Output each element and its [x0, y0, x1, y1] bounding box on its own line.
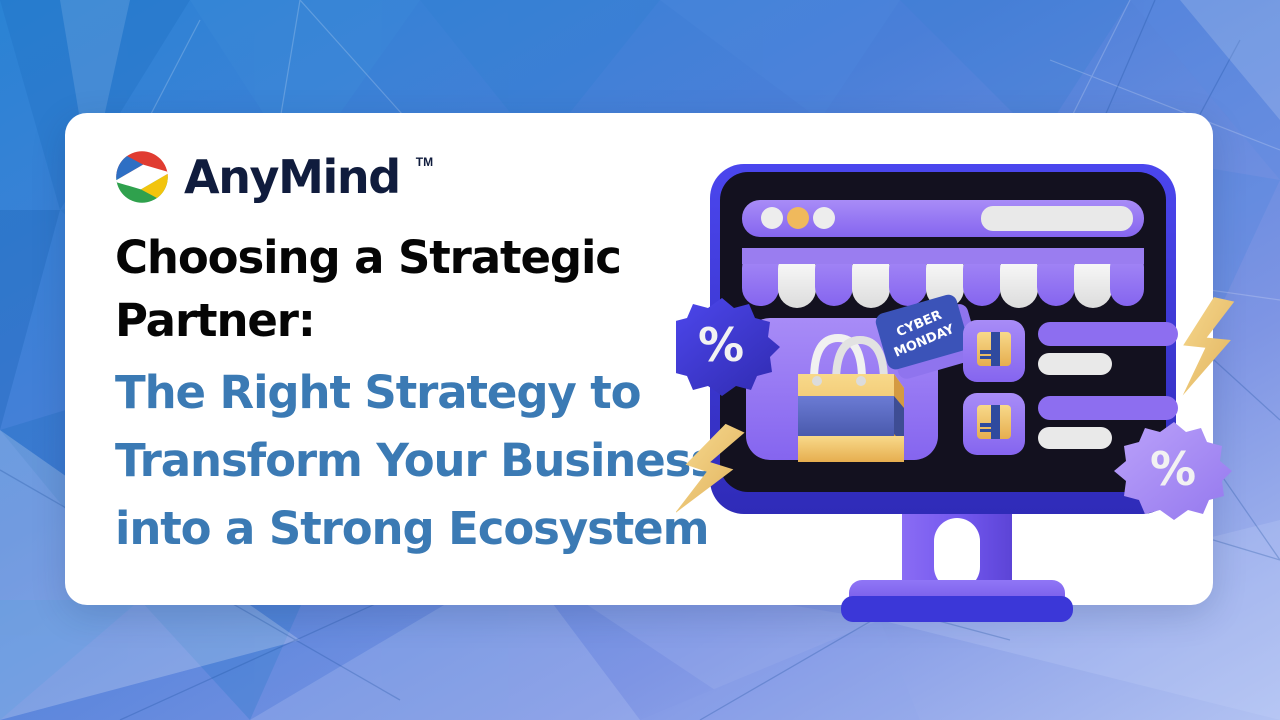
subhead-line-3: into a Strong Ecosystem [115, 495, 755, 563]
window-dot-3 [813, 207, 835, 229]
browser-bar [742, 200, 1144, 237]
cyber-monday-ecommerce-illustration: CYBER MONDAY % % [676, 150, 1246, 630]
subhead-line-1: The Right Strategy to [115, 359, 755, 427]
row-bar-secondary [1038, 427, 1112, 449]
lightning-bolt-right [1176, 296, 1241, 396]
window-dot-1 [761, 207, 783, 229]
headline-line-1: Choosing a Strategic [115, 226, 725, 289]
subhead-line-2: Transform Your Business [115, 427, 755, 495]
row-bar-primary [1038, 396, 1178, 420]
package-box-icon [977, 332, 1011, 366]
monitor-base [841, 580, 1073, 622]
row-bar-primary [1038, 322, 1178, 346]
brand-wordmark: AnyMind [184, 154, 400, 200]
window-dot-2 [787, 207, 809, 229]
page-title: Choosing a Strategic Partner: [115, 226, 725, 352]
headline-line-2: Partner: [115, 289, 725, 352]
percent-symbol: % [1150, 442, 1196, 496]
page-subtitle: The Right Strategy to Transform Your Bus… [115, 359, 755, 563]
anymind-circle-logo-icon [114, 149, 170, 205]
row-bar-secondary [1038, 353, 1112, 375]
trademark-symbol: TM [416, 155, 433, 169]
brand-logo: AnyMind TM [114, 149, 433, 205]
url-pill [981, 206, 1133, 231]
percent-symbol: % [698, 318, 744, 372]
package-box-icon [977, 405, 1011, 439]
